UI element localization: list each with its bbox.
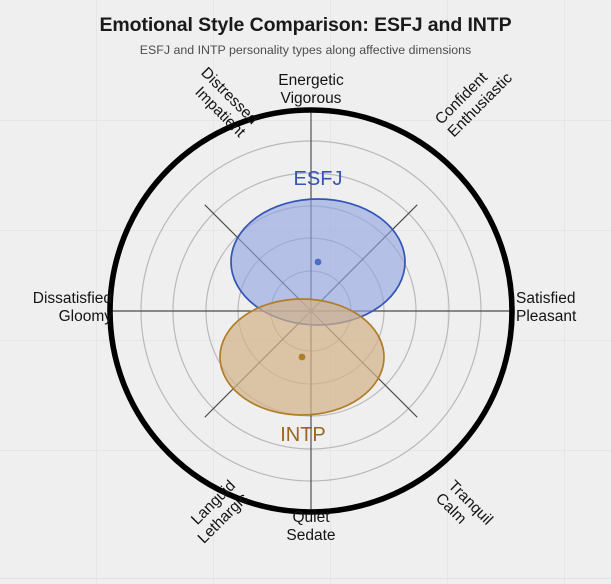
chart-header: Emotional Style Comparison: ESFJ and INT… — [0, 0, 611, 57]
series-label-esfj: ESFJ — [294, 168, 343, 191]
page-title: Emotional Style Comparison: ESFJ and INT… — [0, 0, 611, 37]
axis-label-satisfied: Satisfied Pleasant — [516, 290, 576, 325]
chart-page: Emotional Style Comparison: ESFJ and INT… — [0, 0, 611, 584]
esfj-center-point — [315, 259, 322, 266]
series-label-intp: INTP — [280, 424, 326, 447]
axis-label-energetic: Energetic Vigorous — [278, 72, 343, 107]
page-subtitle: ESFJ and INTP personality types along af… — [0, 37, 611, 57]
intp-center-point — [299, 354, 306, 361]
axis-label-dissatisfied: Dissatisfied Gloomy — [33, 290, 112, 325]
axis-label-quiet: Quiet Sedate — [286, 509, 335, 544]
footer-divider — [0, 578, 611, 579]
